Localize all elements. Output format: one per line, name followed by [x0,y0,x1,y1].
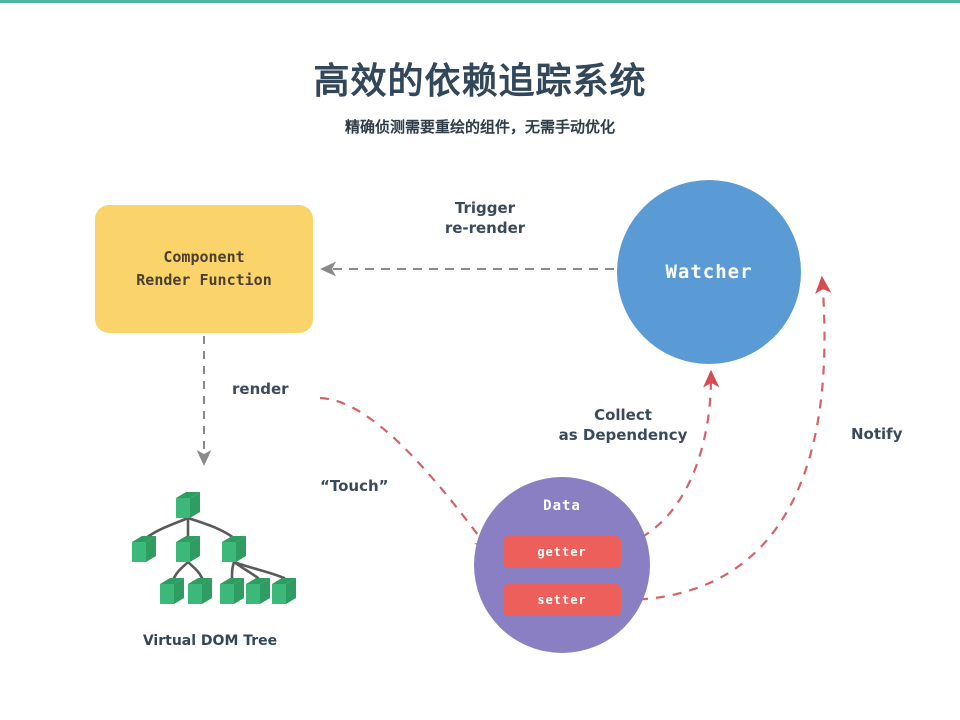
component-render-function-node[interactable]: ComponentRender Function [95,205,313,333]
edge-touch [320,398,490,551]
vdom-cube-l3-c [220,578,244,604]
vdom-cube-root [176,492,200,518]
vdom-cube-l2-b [176,536,200,562]
watcher-node[interactable]: Watcher [617,180,801,364]
edge-label-trigger-re-render: Triggerre-render [430,198,540,239]
edge-label-render: render [232,379,289,399]
vdom-cube-l3-a [160,578,184,604]
edge-label-collect-line2: as Dependency [559,426,688,444]
edge-collect-as-dependency [626,372,711,545]
vdom-cube-l3-b [188,578,212,604]
setter-box[interactable]: setter [503,584,621,616]
edge-label-notify: Notify [851,424,902,444]
edge-label-collect-as-dependency: Collectas Dependency [548,405,698,446]
diagram-slide: 高效的依赖追踪系统 精确侦测需要重绘的组件，无需手动优化 ComponentRe… [0,0,960,720]
edge-label-trigger-line2: re-render [445,219,525,237]
component-node-label-line1: Component [163,246,244,269]
vdom-cube-l3-e [272,578,296,604]
component-node-label-line2: Render Function [136,269,271,292]
edge-label-collect-line1: Collect [594,406,652,424]
getter-box[interactable]: getter [503,536,621,568]
virtual-dom-tree-caption: Virtual DOM Tree [110,633,310,649]
watcher-node-label: Watcher [617,180,801,364]
data-node-label: Data [474,498,650,514]
vdom-cube-l3-d [246,578,270,604]
virtual-dom-tree [124,484,300,616]
vdom-cube-l2-a [132,536,156,562]
edge-label-touch: “Touch” [320,476,389,496]
component-node-label: ComponentRender Function [95,205,313,333]
vdom-cube-l2-c [222,536,246,562]
edge-label-trigger-line1: Trigger [455,199,515,217]
